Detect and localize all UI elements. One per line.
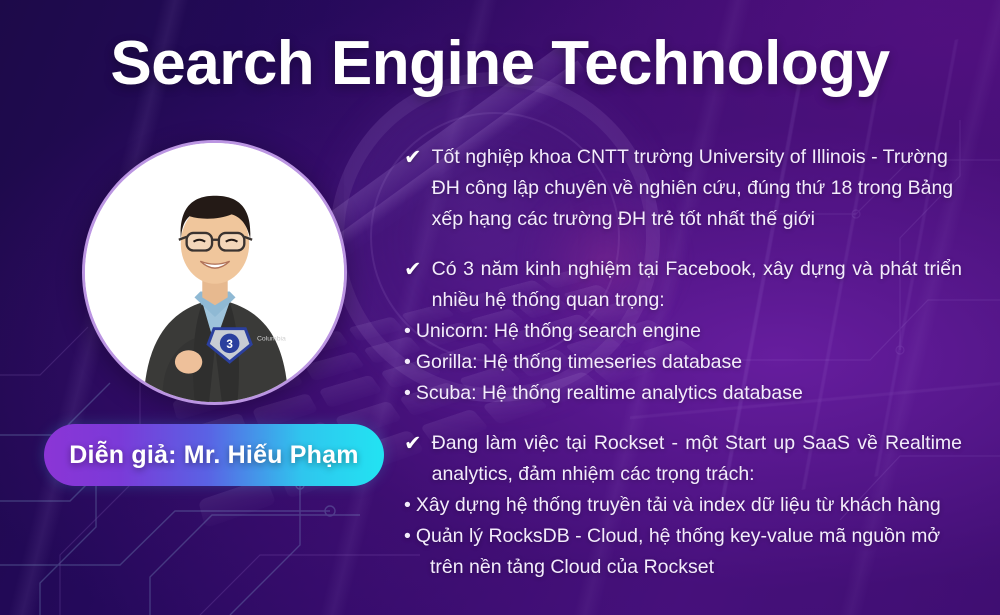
speaker-photo-illustration: 3 Columbia: [85, 143, 344, 402]
bullet-dot-icon: •: [404, 494, 411, 516]
bullet-group: ✔Đang làm việc tại Rockset - một Start u…: [404, 428, 962, 583]
check-icon: ✔: [404, 144, 422, 171]
sub-bullet-text: Unicorn: Hệ thống search engine: [416, 320, 701, 342]
bullet-head: ✔Tốt nghiệp khoa CNTT trường University …: [404, 142, 962, 235]
sub-bullet-text: Xây dựng hệ thống truyền tải và index dữ…: [416, 494, 941, 516]
sub-bullet-item: •Unicorn: Hệ thống search engine: [404, 316, 962, 347]
bullet-dot-icon: •: [404, 382, 411, 404]
sub-bullet-list: •Xây dựng hệ thống truyền tải và index d…: [404, 490, 962, 583]
bullet-group: ✔Tốt nghiệp khoa CNTT trường University …: [404, 142, 962, 235]
bullet-group: ✔Có 3 năm kinh nghiệm tại Facebook, xây …: [404, 254, 962, 409]
sub-bullet-item: •Scuba: Hệ thống realtime analytics data…: [404, 378, 962, 409]
speaker-avatar: 3 Columbia: [82, 140, 347, 405]
sub-bullet-item: •Xây dựng hệ thống truyền tải và index d…: [404, 490, 962, 521]
sub-bullet-text: Quản lý RocksDB - Cloud, hệ thống key-va…: [416, 525, 940, 578]
page-title: Search Engine Technology: [0, 28, 1000, 99]
speaker-name-label: Diễn giả: Mr. Hiếu Phạm: [69, 441, 358, 470]
sub-bullet-list: •Unicorn: Hệ thống search engine•Gorilla…: [404, 316, 962, 409]
svg-text:3: 3: [226, 338, 233, 351]
check-icon: ✔: [404, 256, 422, 283]
bullet-text: Có 3 năm kinh nghiệm tại Facebook, xây d…: [432, 254, 962, 316]
sub-bullet-item: •Quản lý RocksDB - Cloud, hệ thống key-v…: [404, 521, 962, 583]
speaker-name-badge: Diễn giả: Mr. Hiếu Phạm: [44, 424, 384, 486]
bullet-text: Đang làm việc tại Rockset - một Start up…: [432, 428, 962, 490]
sub-bullet-item: •Gorilla: Hệ thống timeseries database: [404, 347, 962, 378]
sub-bullet-text: Scuba: Hệ thống realtime analytics datab…: [416, 382, 803, 404]
bullet-head: ✔Đang làm việc tại Rockset - một Start u…: [404, 428, 962, 490]
bullet-dot-icon: •: [404, 525, 411, 547]
bullet-text: Tốt nghiệp khoa CNTT trường University o…: [432, 142, 962, 235]
speaker-name-badge-inner: Diễn giả: Mr. Hiếu Phạm: [47, 427, 381, 483]
check-icon: ✔: [404, 430, 422, 457]
bullet-dot-icon: •: [404, 320, 411, 342]
bullet-head: ✔Có 3 năm kinh nghiệm tại Facebook, xây …: [404, 254, 962, 316]
slide-root: Search Engine Technology: [0, 0, 1000, 615]
bullet-list: ✔Tốt nghiệp khoa CNTT trường University …: [404, 142, 962, 583]
bullet-dot-icon: •: [404, 351, 411, 373]
sub-bullet-text: Gorilla: Hệ thống timeseries database: [416, 351, 742, 373]
svg-text:Columbia: Columbia: [257, 335, 286, 342]
